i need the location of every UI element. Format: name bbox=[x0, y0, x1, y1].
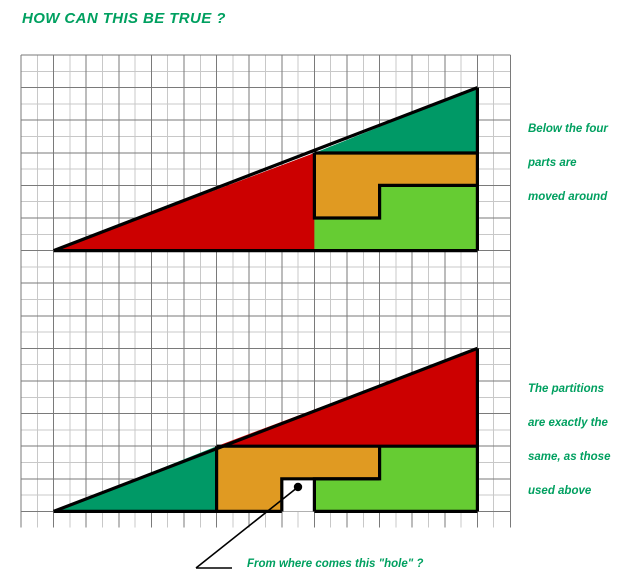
note-lower-line-1: The partitions bbox=[528, 382, 610, 396]
caption-hole: From where comes this "hole" ? bbox=[247, 558, 423, 570]
note-upper-line-3: moved around bbox=[528, 190, 608, 204]
note-upper-line-2: parts are bbox=[528, 156, 608, 170]
note-lower-line-4: used above bbox=[528, 484, 610, 498]
note-lower-line-3: same, as those bbox=[528, 450, 610, 464]
note-lower: The partitions are exactly the same, as … bbox=[528, 382, 610, 518]
pointer-dot bbox=[294, 483, 302, 491]
note-upper-line-1: Below the four bbox=[528, 122, 608, 136]
note-upper: Below the four parts are moved around bbox=[528, 122, 608, 224]
note-lower-line-2: are exactly the bbox=[528, 416, 610, 430]
